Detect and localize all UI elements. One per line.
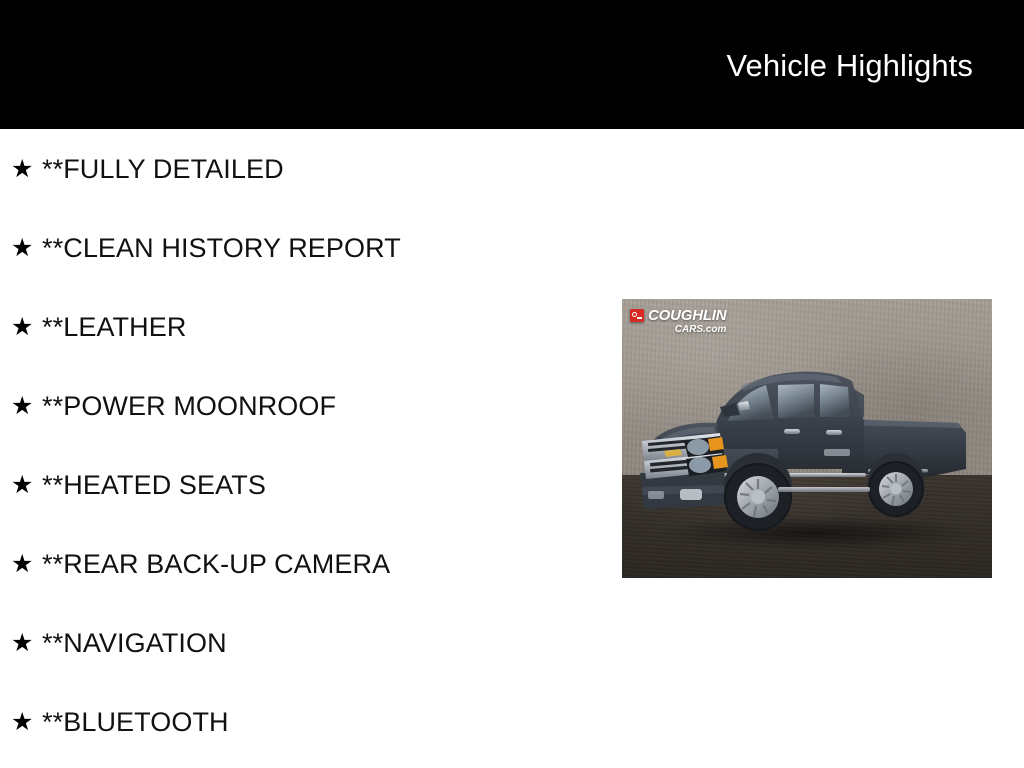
header-bar: Vehicle Highlights bbox=[0, 0, 1024, 129]
list-item-label: **CLEAN HISTORY REPORT bbox=[42, 232, 401, 264]
star-icon: ★ bbox=[11, 237, 33, 259]
list-item: ★ **BLUETOOTH bbox=[0, 682, 600, 761]
vehicle-photo[interactable]: COUGHLIN CARS.com bbox=[622, 299, 992, 578]
star-icon: ★ bbox=[11, 553, 33, 575]
list-item: ★ **LEATHER bbox=[0, 287, 600, 366]
list-item-label: **FULLY DETAILED bbox=[42, 153, 284, 185]
watermark-domain: CARS.com bbox=[648, 325, 726, 335]
vehicle-highlights-page: Vehicle Highlights ★ **FULLY DETAILED ★ … bbox=[0, 0, 1024, 768]
star-icon: ★ bbox=[11, 395, 33, 417]
list-item-label: **NAVIGATION bbox=[42, 627, 227, 659]
watermark-brand: COUGHLIN bbox=[648, 308, 726, 323]
list-item-label: **POWER MOONROOF bbox=[42, 390, 336, 422]
list-item: ★ **NAVIGATION bbox=[0, 603, 600, 682]
list-item: ★ **REAR BACK-UP CAMERA bbox=[0, 524, 600, 603]
list-item: ★ **FULLY DETAILED bbox=[0, 129, 600, 208]
list-item: ★ **POWER MOONROOF bbox=[0, 366, 600, 445]
vehicle-highlights-list: ★ **FULLY DETAILED ★ **CLEAN HISTORY REP… bbox=[0, 129, 600, 761]
star-icon: ★ bbox=[11, 158, 33, 180]
list-item-label: **HEATED SEATS bbox=[42, 469, 266, 501]
star-icon: ★ bbox=[11, 632, 33, 654]
list-item: ★ **CLEAN HISTORY REPORT bbox=[0, 208, 600, 287]
list-item-label: **LEATHER bbox=[42, 311, 186, 343]
coughlin-logo-icon bbox=[630, 309, 644, 322]
list-item: ★ **HEATED SEATS bbox=[0, 445, 600, 524]
list-item-label: **BLUETOOTH bbox=[42, 706, 229, 738]
dealer-watermark: COUGHLIN CARS.com bbox=[630, 308, 726, 335]
page-title: Vehicle Highlights bbox=[726, 48, 973, 84]
list-item-label: **REAR BACK-UP CAMERA bbox=[42, 548, 390, 580]
star-icon: ★ bbox=[11, 711, 33, 733]
star-icon: ★ bbox=[11, 474, 33, 496]
star-icon: ★ bbox=[11, 316, 33, 338]
truck-illustration bbox=[628, 337, 986, 552]
